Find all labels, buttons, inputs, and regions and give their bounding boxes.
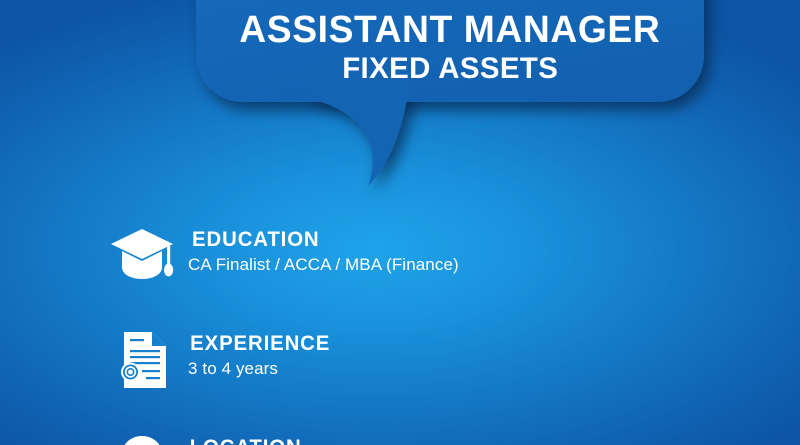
job-subtitle: FIXED ASSETS — [342, 53, 558, 85]
detail-text-location: LOCATION — [188, 432, 303, 445]
detail-text-experience: EXPERIENCE 3 to 4 years — [188, 328, 332, 381]
detail-value-experience: 3 to 4 years — [188, 358, 332, 381]
kicker-text: OPPORTUNITY — [248, 0, 652, 6]
job-title: ASSISTANT MANAGER — [239, 11, 660, 50]
speech-bubble-text: OPPORTUNITY ASSISTANT MANAGER FIXED ASSE… — [196, 0, 704, 102]
certificate-document-icon — [96, 328, 188, 390]
map-pin-icon — [96, 432, 188, 445]
detail-value-education: CA Finalist / ACCA / MBA (Finance) — [188, 254, 459, 277]
detail-row-education: EDUCATION CA Finalist / ACCA / MBA (Fina… — [96, 224, 736, 328]
detail-text-education: EDUCATION CA Finalist / ACCA / MBA (Fina… — [188, 224, 459, 277]
detail-row-location: LOCATION — [96, 432, 736, 445]
job-opportunity-poster: OPPORTUNITY ASSISTANT MANAGER FIXED ASSE… — [0, 0, 800, 445]
graduation-cap-icon — [96, 224, 188, 282]
detail-label-experience: EXPERIENCE — [190, 332, 330, 355]
speech-bubble: OPPORTUNITY ASSISTANT MANAGER FIXED ASSE… — [196, 0, 704, 102]
detail-label-education: EDUCATION — [192, 228, 455, 251]
detail-row-experience: EXPERIENCE 3 to 4 years — [96, 328, 736, 432]
detail-label-location: LOCATION — [190, 436, 302, 445]
detail-list: EDUCATION CA Finalist / ACCA / MBA (Fina… — [96, 224, 736, 445]
